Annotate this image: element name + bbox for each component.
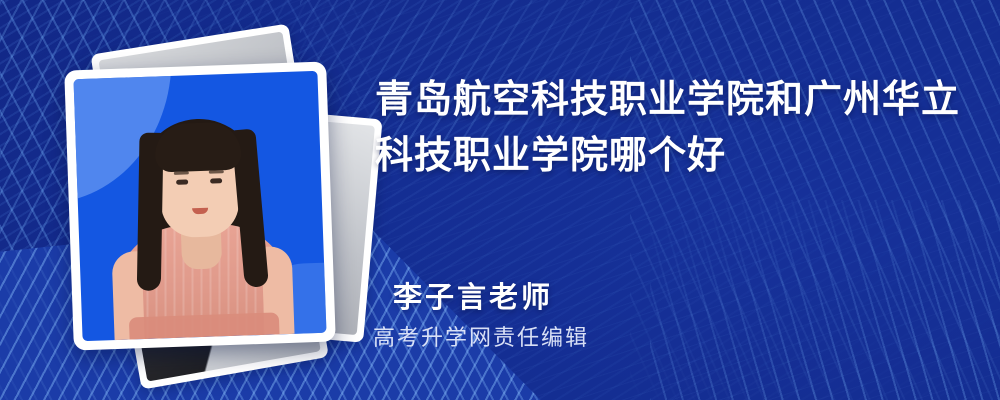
portrait-eye-right — [210, 178, 222, 183]
portrait-eyebrow-left — [174, 171, 189, 175]
portrait-hair-front — [154, 122, 242, 173]
author-role: 高考升学网责任编辑 — [373, 320, 589, 352]
article-title-line-1: 青岛航空科技职业学院和广州华立 — [375, 79, 960, 121]
portrait-dress-waist — [129, 312, 280, 339]
banner-text-column: 青岛航空科技职业学院和广州华立科技职业学院哪个好 李子言老师 高考升学网责任编辑 — [372, 0, 972, 400]
author-photo — [74, 71, 327, 341]
author-name: 李子言老师 — [393, 274, 553, 316]
article-header-banner: 青岛航空科技职业学院和广州华立科技职业学院哪个好 李子言老师 高考升学网责任编辑 — [0, 0, 1000, 400]
portrait-illustration — [74, 71, 327, 341]
photo-card-stack — [55, 30, 355, 370]
portrait-eye-left — [176, 179, 188, 184]
article-title-line-2: 科技职业学院哪个好 — [375, 135, 726, 177]
author-photo-card — [64, 62, 336, 351]
portrait-eyebrow-right — [209, 170, 224, 174]
article-title: 青岛航空科技职业学院和广州华立科技职业学院哪个好 — [375, 72, 965, 184]
